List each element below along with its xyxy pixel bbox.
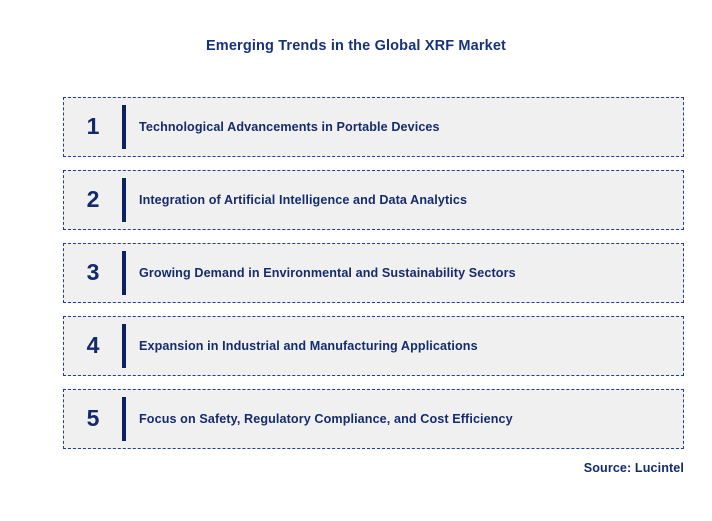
trend-label: Growing Demand in Environmental and Sust… bbox=[126, 266, 516, 280]
trend-label: Technological Advancements in Portable D… bbox=[126, 120, 440, 134]
trend-rank-number: 3 bbox=[64, 261, 122, 286]
trend-row[interactable]: 2 Integration of Artificial Intelligence… bbox=[63, 170, 684, 230]
trend-row[interactable]: 1 Technological Advancements in Portable… bbox=[63, 97, 684, 157]
trend-rank-number: 2 bbox=[64, 188, 122, 213]
trend-rank-number: 4 bbox=[64, 334, 122, 359]
trend-list: 1 Technological Advancements in Portable… bbox=[63, 97, 684, 462]
trend-row[interactable]: 3 Growing Demand in Environmental and Su… bbox=[63, 243, 684, 303]
page-title: Emerging Trends in the Global XRF Market bbox=[0, 38, 712, 54]
trend-row[interactable]: 5 Focus on Safety, Regulatory Compliance… bbox=[63, 389, 684, 449]
trend-rank-number: 1 bbox=[64, 115, 122, 140]
trend-label: Integration of Artificial Intelligence a… bbox=[126, 193, 467, 207]
trend-row[interactable]: 4 Expansion in Industrial and Manufactur… bbox=[63, 316, 684, 376]
trend-label: Expansion in Industrial and Manufacturin… bbox=[126, 339, 478, 353]
source-attribution: Source: Lucintel bbox=[584, 461, 684, 475]
trend-rank-number: 5 bbox=[64, 407, 122, 432]
trend-label: Focus on Safety, Regulatory Compliance, … bbox=[126, 412, 513, 426]
